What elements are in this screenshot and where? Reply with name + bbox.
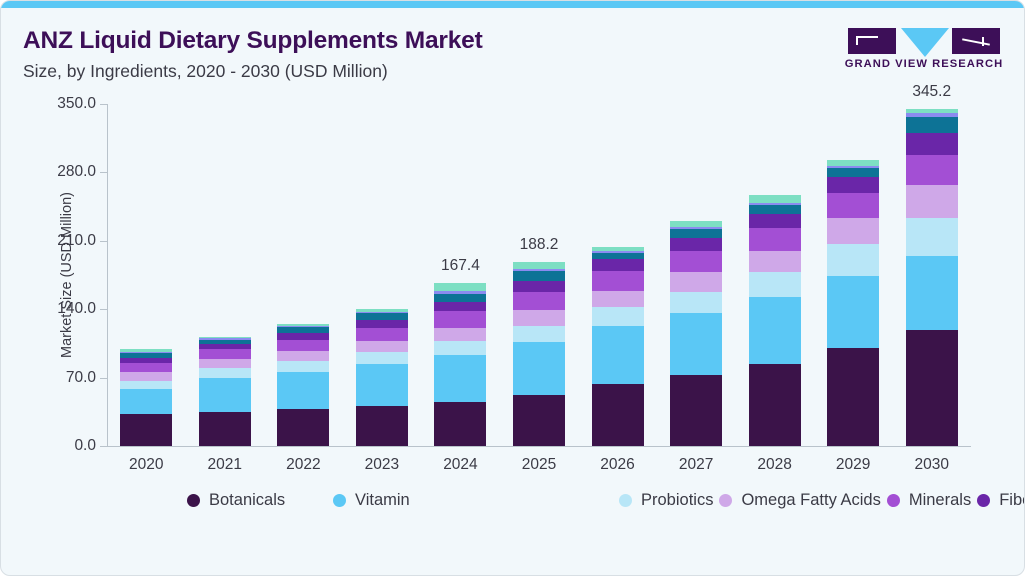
bar-segment[interactable] bbox=[277, 340, 329, 351]
logo-right-rect-icon bbox=[952, 28, 1000, 54]
bar-segment[interactable] bbox=[356, 364, 408, 406]
legend-label: Botanicals bbox=[209, 491, 285, 510]
bar-segment[interactable] bbox=[356, 313, 408, 320]
bar-group[interactable] bbox=[120, 349, 172, 446]
bar-stack[interactable]: 345.2 bbox=[906, 109, 958, 446]
bar-segment[interactable] bbox=[906, 330, 958, 446]
legend-swatch-icon bbox=[619, 494, 632, 507]
x-tick-label: 2029 bbox=[814, 456, 893, 474]
chart-card: ANZ Liquid Dietary Supplements Market Si… bbox=[0, 0, 1025, 576]
logo-marks bbox=[844, 26, 1004, 56]
bar-group[interactable] bbox=[356, 309, 408, 446]
bar-segment[interactable] bbox=[199, 359, 251, 368]
bar-segment[interactable] bbox=[513, 310, 565, 326]
y-tick bbox=[100, 378, 107, 379]
bar-group[interactable] bbox=[749, 195, 801, 446]
bar-segment[interactable] bbox=[434, 402, 486, 446]
y-tick bbox=[100, 104, 107, 105]
bar-segment[interactable] bbox=[513, 292, 565, 311]
legend-swatch-icon bbox=[887, 494, 900, 507]
x-tick-label: 2030 bbox=[892, 456, 971, 474]
bar-segment[interactable] bbox=[827, 218, 879, 243]
bar-segment[interactable] bbox=[906, 133, 958, 154]
x-tick-label: 2022 bbox=[264, 456, 343, 474]
bar-segment[interactable] bbox=[277, 351, 329, 361]
bar-segment[interactable] bbox=[356, 341, 408, 352]
bar-value-label: 167.4 bbox=[441, 257, 480, 275]
bar-segment[interactable] bbox=[670, 292, 722, 313]
x-tick-label: 2026 bbox=[578, 456, 657, 474]
bar-segment[interactable] bbox=[592, 307, 644, 326]
bar-segment[interactable] bbox=[277, 372, 329, 409]
bar-stack[interactable] bbox=[277, 324, 329, 446]
x-tick-label: 2028 bbox=[735, 456, 814, 474]
plot-area: 0.070.0140.0210.0280.0350.0 167.4188.234… bbox=[107, 104, 971, 446]
y-tick-label: 140.0 bbox=[57, 300, 96, 318]
bar-segment[interactable] bbox=[277, 409, 329, 446]
legend-label: Fibers & Specialty Carbohydrates bbox=[999, 491, 1025, 510]
legend-label: Minerals bbox=[909, 491, 971, 510]
bar-segment[interactable] bbox=[906, 256, 958, 329]
bar-segment[interactable] bbox=[277, 333, 329, 340]
legend-label: Probiotics bbox=[641, 491, 713, 510]
bar-segment[interactable] bbox=[749, 214, 801, 228]
bar-segment[interactable] bbox=[434, 341, 486, 355]
bar-segment[interactable] bbox=[356, 320, 408, 328]
bar-segment[interactable] bbox=[827, 276, 879, 348]
bar-segment[interactable] bbox=[356, 352, 408, 364]
bar-segment[interactable] bbox=[827, 244, 879, 276]
bar-segment[interactable] bbox=[827, 168, 879, 178]
bar-segment[interactable] bbox=[749, 228, 801, 250]
x-axis-line bbox=[107, 446, 971, 447]
bar-segment[interactable] bbox=[199, 378, 251, 412]
bar-segment[interactable] bbox=[906, 117, 958, 134]
bar-segment[interactable] bbox=[749, 297, 801, 363]
bar-segment[interactable] bbox=[906, 185, 958, 218]
y-tick-label: 210.0 bbox=[57, 232, 96, 250]
chart-legend: BotanicalsVitaminProbioticsOmega Fatty A… bbox=[187, 488, 1007, 513]
bar-segment[interactable] bbox=[513, 395, 565, 446]
bar-segment[interactable] bbox=[513, 271, 565, 281]
bar-segment[interactable] bbox=[199, 349, 251, 358]
bar-value-label: 345.2 bbox=[912, 83, 951, 101]
bar-segment[interactable] bbox=[120, 363, 172, 372]
x-tick-label: 2020 bbox=[107, 456, 186, 474]
bar-segment[interactable] bbox=[199, 412, 251, 446]
bar-segment[interactable] bbox=[434, 294, 486, 303]
accent-top-bar bbox=[1, 1, 1024, 8]
legend-swatch-icon bbox=[719, 494, 732, 507]
bar-segment[interactable] bbox=[120, 372, 172, 381]
legend-label: Vitamin bbox=[355, 491, 410, 510]
bar-segment[interactable] bbox=[670, 238, 722, 251]
bar-stack[interactable] bbox=[356, 309, 408, 446]
legend-item[interactable]: Probiotics bbox=[619, 488, 713, 513]
bar-group[interactable] bbox=[670, 221, 722, 446]
bar-segment[interactable] bbox=[749, 195, 801, 203]
bar-segment[interactable] bbox=[120, 381, 172, 390]
legend-item[interactable]: Omega Fatty Acids bbox=[719, 488, 880, 513]
logo-wordmark: GRAND VIEW RESEARCH bbox=[844, 58, 1004, 70]
logo-triangle-icon bbox=[901, 28, 949, 57]
bar-segment[interactable] bbox=[434, 328, 486, 342]
bar-stack[interactable]: 167.4 bbox=[434, 283, 486, 447]
legend-swatch-icon bbox=[333, 494, 346, 507]
bar-segment[interactable] bbox=[670, 313, 722, 375]
bar-segment[interactable] bbox=[434, 302, 486, 311]
legend-item[interactable]: Fibers & Specialty Carbohydrates bbox=[977, 488, 1025, 513]
x-tick-label: 2027 bbox=[657, 456, 736, 474]
legend-label: Omega Fatty Acids bbox=[741, 491, 880, 510]
bar-stack[interactable]: 188.2 bbox=[513, 262, 565, 446]
x-tick-label: 2021 bbox=[186, 456, 265, 474]
bar-segment[interactable] bbox=[749, 272, 801, 297]
bar-value-label: 188.2 bbox=[520, 236, 559, 254]
x-tick-label: 2023 bbox=[343, 456, 422, 474]
legend-item[interactable]: Vitamin bbox=[333, 488, 613, 513]
legend-item[interactable]: Minerals bbox=[887, 488, 971, 513]
bar-segment[interactable] bbox=[670, 229, 722, 238]
bar-segment[interactable] bbox=[670, 251, 722, 272]
y-tick bbox=[100, 446, 107, 447]
page-subtitle: Size, by Ingredients, 2020 - 2030 (USD M… bbox=[23, 61, 388, 82]
bar-group[interactable] bbox=[199, 337, 251, 446]
bar-stack[interactable] bbox=[749, 195, 801, 446]
legend-swatch-icon bbox=[977, 494, 990, 507]
bar-segment[interactable] bbox=[356, 406, 408, 446]
bar-group[interactable]: 188.2 bbox=[513, 262, 565, 446]
bar-segment[interactable] bbox=[592, 326, 644, 385]
y-tick-label: 350.0 bbox=[57, 95, 96, 113]
bar-stack[interactable] bbox=[827, 160, 879, 446]
y-tick-label: 0.0 bbox=[74, 437, 96, 455]
y-tick bbox=[100, 241, 107, 242]
bar-segment[interactable] bbox=[277, 361, 329, 372]
bar-segment[interactable] bbox=[827, 348, 879, 446]
bar-group[interactable]: 345.2 bbox=[906, 109, 958, 446]
bar-segment[interactable] bbox=[592, 259, 644, 271]
bar-segment[interactable] bbox=[670, 272, 722, 292]
bar-segment[interactable] bbox=[670, 375, 722, 446]
bar-segment[interactable] bbox=[749, 205, 801, 215]
bar-segment[interactable] bbox=[749, 251, 801, 272]
x-tick-label: 2025 bbox=[500, 456, 579, 474]
logo-left-rect-icon bbox=[848, 28, 896, 54]
bar-segment[interactable] bbox=[199, 368, 251, 378]
bar-group[interactable] bbox=[592, 247, 644, 446]
bar-segment[interactable] bbox=[592, 271, 644, 291]
bar-segment[interactable] bbox=[592, 291, 644, 308]
bar-segment[interactable] bbox=[827, 177, 879, 193]
bar-group[interactable]: 167.4 bbox=[434, 283, 486, 447]
bar-group[interactable] bbox=[827, 160, 879, 446]
x-tick-label: 2024 bbox=[421, 456, 500, 474]
legend-item[interactable]: Botanicals bbox=[187, 488, 327, 513]
bar-segment[interactable] bbox=[513, 281, 565, 292]
y-tick-label: 70.0 bbox=[66, 369, 96, 387]
bar-segment[interactable] bbox=[513, 342, 565, 395]
brand-logo: GRAND VIEW RESEARCH bbox=[844, 26, 1004, 78]
bar-stack[interactable] bbox=[120, 349, 172, 446]
page-title: ANZ Liquid Dietary Supplements Market bbox=[23, 27, 483, 55]
bar-segment[interactable] bbox=[906, 218, 958, 256]
bar-segment[interactable] bbox=[434, 283, 486, 292]
bar-segment[interactable] bbox=[434, 355, 486, 402]
y-axis-title: Market Size (USD Million) bbox=[57, 104, 77, 446]
bar-stack[interactable] bbox=[670, 221, 722, 446]
y-tick bbox=[100, 309, 107, 310]
bar-stack[interactable] bbox=[592, 247, 644, 446]
bar-segment[interactable] bbox=[356, 328, 408, 341]
bar-segment[interactable] bbox=[827, 193, 879, 218]
bar-segment[interactable] bbox=[592, 253, 644, 260]
legend-swatch-icon bbox=[187, 494, 200, 507]
y-tick bbox=[100, 172, 107, 173]
bar-segment[interactable] bbox=[513, 326, 565, 343]
y-tick-label: 280.0 bbox=[57, 163, 96, 181]
bar-stack[interactable] bbox=[199, 337, 251, 446]
bar-segment[interactable] bbox=[906, 155, 958, 185]
bar-segment[interactable] bbox=[120, 389, 172, 413]
bar-segment[interactable] bbox=[749, 364, 801, 446]
bar-group[interactable] bbox=[277, 324, 329, 446]
bar-segment[interactable] bbox=[434, 311, 486, 328]
y-axis-line bbox=[107, 104, 108, 446]
bar-segment[interactable] bbox=[120, 414, 172, 446]
bar-segment[interactable] bbox=[513, 262, 565, 269]
bar-segment[interactable] bbox=[592, 384, 644, 446]
